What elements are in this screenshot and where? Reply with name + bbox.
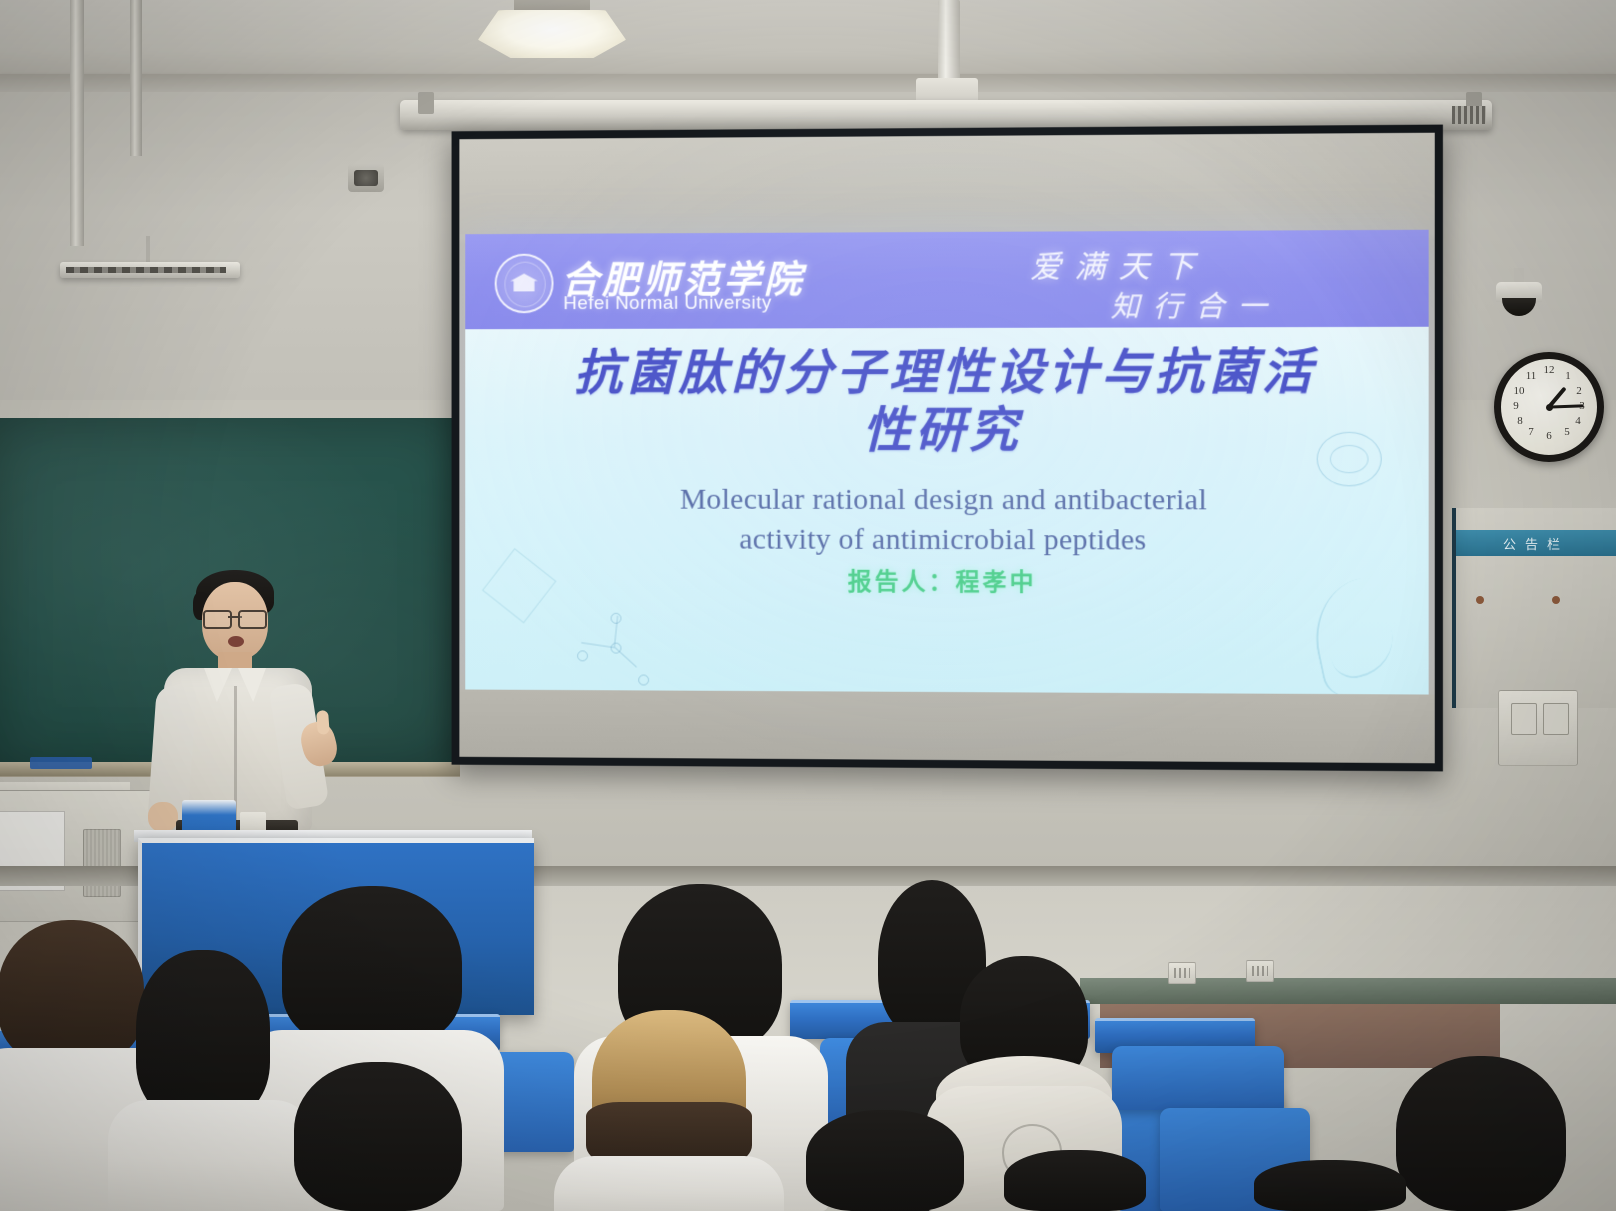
- audience-member: [566, 1010, 766, 1211]
- projection-screen: 合肥师范学院 Hefei Normal University 爱满天下 知行合一: [452, 125, 1443, 772]
- university-name-en: Hefei Normal University: [563, 293, 771, 316]
- slide-title-cn-line1: 抗菌肽的分子理性设计与抗菌活: [465, 343, 1428, 402]
- ceiling-pipe: [70, 0, 84, 246]
- audience-hair: [806, 1110, 964, 1211]
- audience-member: [1250, 1160, 1410, 1211]
- wall-speaker-icon: [348, 164, 384, 192]
- audience-member: [1000, 1150, 1150, 1211]
- eyeglasses-icon: [202, 610, 268, 625]
- chalk-tray-item: [30, 757, 92, 769]
- light-switch[interactable]: [1543, 703, 1569, 735]
- university-seal-icon: [495, 254, 554, 314]
- audience-hair: [1396, 1056, 1566, 1211]
- wall-clock: 12 1 2 3 4 5 6 7 8 9 10 11: [1494, 352, 1604, 462]
- light-switch[interactable]: [1511, 703, 1537, 735]
- ceiling-pipe-secondary: [130, 0, 142, 156]
- audience-member: [800, 1110, 970, 1211]
- slide-title-cn-line2: 性研究: [465, 401, 1428, 459]
- slide-title-cn: 抗菌肽的分子理性设计与抗菌活 性研究: [465, 343, 1428, 460]
- clock-numeral: 10: [1512, 385, 1526, 397]
- wall-outlet: [1168, 962, 1196, 984]
- screen-surface: 合肥师范学院 Hefei Normal University 爱满天下 知行合一: [459, 133, 1434, 764]
- seat-back: [1112, 1046, 1284, 1110]
- clock-numeral: 2: [1572, 385, 1586, 397]
- screen-unlit-bottom: [459, 689, 1434, 763]
- presenter-hand-left: [148, 802, 178, 832]
- clock-numeral: 6: [1542, 430, 1556, 442]
- clock-numeral: 1: [1561, 370, 1575, 382]
- wall-switch-panel[interactable]: [1498, 690, 1578, 766]
- audience-member: [1386, 1056, 1576, 1211]
- audience-member: [288, 1062, 474, 1211]
- slide-title-en-line2: activity of antimicrobial peptides: [465, 519, 1428, 560]
- audience-hair: [294, 1062, 462, 1211]
- clock-center-pin: [1546, 404, 1553, 411]
- clock-numeral: 9: [1509, 400, 1523, 412]
- wall-outlet: [1246, 960, 1274, 982]
- wall-marble-band: [1080, 978, 1616, 1004]
- audience-hair: [136, 950, 270, 1120]
- slide-title-en: Molecular rational design and antibacter…: [465, 480, 1428, 561]
- dome-security-camera-icon: [1496, 268, 1542, 322]
- notice-board-label: 公告栏: [1456, 530, 1616, 556]
- notice-pin: [1552, 596, 1560, 604]
- screen-unlit-top: [459, 133, 1434, 235]
- camera-dome: [1502, 298, 1536, 316]
- clock-numeral: 7: [1524, 426, 1538, 438]
- light-glow: [478, 10, 626, 58]
- notice-pin: [1476, 596, 1484, 604]
- audience-member: [122, 950, 296, 1211]
- hanging-light-rod: [146, 236, 150, 264]
- slide-header-band: 合肥师范学院 Hefei Normal University 爱满天下 知行合一: [465, 230, 1428, 329]
- audience-torso: [108, 1100, 314, 1211]
- university-motto-line1: 爱满天下: [1030, 241, 1207, 287]
- university-motto-line2: 知行合一: [1110, 283, 1280, 326]
- audience-torso: [554, 1156, 784, 1211]
- roller-bracket: [418, 92, 434, 114]
- clock-numeral: 5: [1560, 426, 1574, 438]
- clock-numeral: 12: [1542, 364, 1556, 376]
- audience-hair: [1004, 1150, 1146, 1211]
- presenter-mouth: [228, 636, 244, 647]
- audience-hair: [1254, 1160, 1406, 1211]
- wall-mounted-lamp: [60, 262, 240, 278]
- slide-title-en-line1: Molecular rational design and antibacter…: [465, 480, 1428, 521]
- wall-vent: [83, 829, 121, 897]
- clock-numeral: 11: [1524, 370, 1538, 382]
- presentation-slide: 合肥师范学院 Hefei Normal University 爱满天下 知行合一: [465, 230, 1428, 695]
- lecture-hall-photo: 12 1 2 3 4 5 6 7 8 9 10 11 公告栏 合肥师范学院: [0, 0, 1616, 1211]
- slide-presenter-line: 报告人：程孝中: [465, 561, 1428, 599]
- audience-hair: [282, 886, 462, 1046]
- molecule-decoration-icon: [573, 613, 662, 693]
- dome-ceiling-light-icon: [478, 0, 626, 58]
- roller-endcap: [1452, 106, 1486, 124]
- clock-numeral: 8: [1513, 415, 1527, 427]
